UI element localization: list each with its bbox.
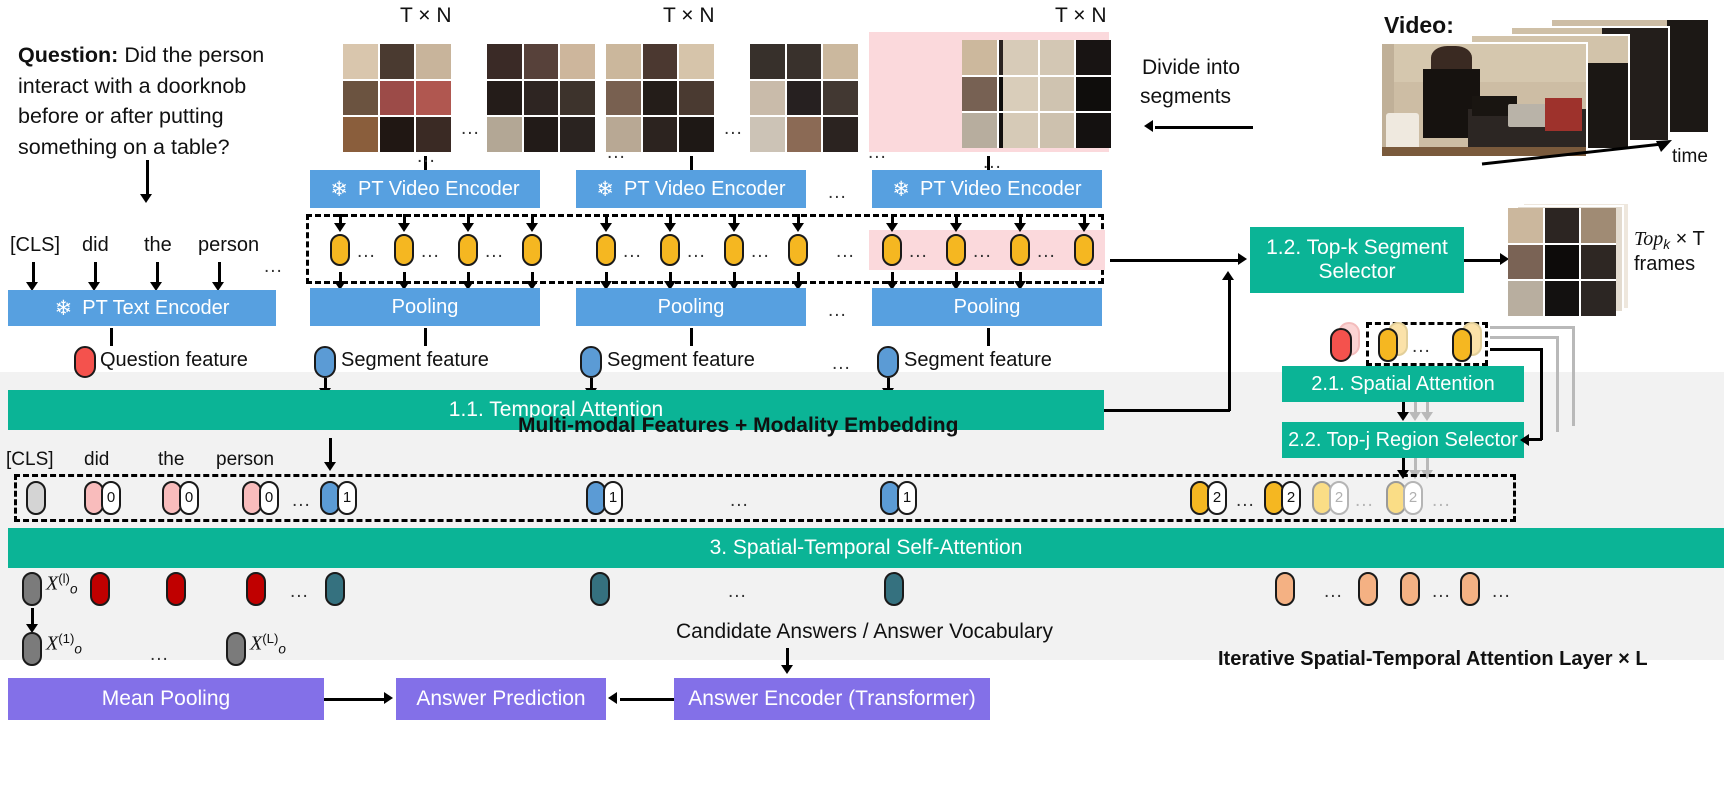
pooling-label: Pooling [392, 296, 459, 318]
snowflake-icon: ❄ [596, 179, 614, 200]
pt-text-encoder[interactable]: ❄ PT Text Encoder [8, 290, 276, 326]
line-tokens-to-topk [1110, 259, 1240, 262]
snowflake-icon: ❄ [892, 179, 910, 200]
arrow-pool3-down [987, 328, 990, 346]
question-label: Question: [18, 43, 118, 67]
answer-encoder-label: Answer Encoder (Transformer) [688, 687, 975, 711]
output-ellipsis-1: ... [290, 581, 309, 603]
tick-head [886, 223, 898, 232]
pooling-2[interactable]: Pooling [576, 288, 806, 326]
ghost-feedback-line [1556, 336, 1559, 432]
tick-head [1078, 223, 1090, 232]
pooling-label: Pooling [658, 296, 725, 318]
divide-line-1: Divide into [1142, 56, 1240, 80]
token-the: the [144, 234, 172, 257]
arrow-question-to-tokens [146, 160, 149, 196]
pt-video-encoder-3[interactable]: ❄ PT Video Encoder [872, 170, 1102, 208]
answer-prediction-box[interactable]: Answer Prediction [396, 678, 606, 720]
modality-id-segment: 1 [897, 490, 917, 505]
frame-token-ellipsis: ... [909, 241, 928, 263]
spatial-attention-module[interactable]: 2.1. Spatial Attention [1282, 366, 1524, 402]
modality-id-text: 0 [179, 490, 199, 505]
snowflake-icon: ❄ [55, 298, 73, 319]
modality-id-segment: 1 [603, 490, 623, 505]
pooling-3[interactable]: Pooling [872, 288, 1102, 326]
frame-token-ellipsis: ... [1037, 241, 1056, 263]
output-token-region [1358, 572, 1378, 606]
answer-encoder-box[interactable]: Answer Encoder (Transformer) [674, 678, 990, 720]
arrow-person-down [218, 262, 221, 284]
topk-label-top: Top [1634, 228, 1663, 250]
output-token-cls [22, 572, 42, 606]
question-feature-label: Question feature [100, 349, 248, 372]
x-subscript: o [70, 581, 78, 596]
output-token-segment [590, 572, 610, 606]
time-arrow-icon [1480, 138, 1680, 168]
output-token-xL [226, 632, 246, 666]
tn-label-3: T × N [1055, 4, 1107, 28]
frame-token-ellipsis: ... [421, 241, 440, 263]
tick-head [664, 223, 676, 232]
pt-video-encoder-label: PT Video Encoder [624, 178, 786, 200]
line-temporal-to-topk-up [1228, 280, 1231, 411]
arrow-cls-down [32, 262, 35, 284]
line-topk-to-frames [1464, 259, 1504, 262]
frame-token-ellipsis: ... [357, 241, 376, 263]
arrowhead-temporal-mm [324, 462, 336, 471]
tick-head [334, 223, 346, 232]
line-meanpool-to-answerpred [324, 698, 386, 701]
spatial-attention-label: 2.1. Spatial Attention [1311, 373, 1494, 395]
output-token-segment [325, 572, 345, 606]
frame-token [1010, 234, 1030, 266]
pt-video-encoder-2[interactable]: ❄ PT Video Encoder [576, 170, 806, 208]
mean-pooling-box[interactable]: Mean Pooling [8, 678, 324, 720]
line-divide-arrow [1155, 126, 1253, 129]
frame-token [788, 234, 808, 266]
modality-id-region: 2 [1329, 490, 1349, 505]
output-token-text [246, 572, 266, 606]
mm-ellipsis-3: ... [1236, 490, 1255, 512]
arrowhead-answerpred-in [384, 692, 393, 704]
x-symbol: X [46, 573, 58, 595]
time-arrow [1480, 138, 1680, 168]
tick-head [792, 223, 804, 232]
frame-token [882, 234, 902, 266]
topk-frames-label: Topk × T [1634, 228, 1705, 252]
output-ellipsis-3: ... [1324, 581, 1343, 603]
region-token-ellipsis: ... [1412, 336, 1431, 358]
tick-head [462, 223, 474, 232]
tick-head [728, 223, 740, 232]
line-answerenc-to-answerpred [620, 698, 674, 701]
ghost-arrowhead [1421, 412, 1433, 421]
output-token-region [1400, 572, 1420, 606]
arrowhead-question [140, 194, 152, 203]
arrow-did-down [94, 262, 97, 284]
line-temporal-to-topk [1104, 409, 1230, 412]
token-did: did [82, 234, 109, 257]
tick-head [526, 223, 538, 232]
answer-prediction-label: Answer Prediction [416, 687, 585, 711]
iterative-layer-label: Iterative Spatial-Temporal Attention Lay… [1218, 648, 1648, 671]
topk-selector-line1: 1.2. Top-k Segment [1266, 236, 1448, 260]
modality-id-region: 2 [1207, 490, 1227, 505]
ghost-arrowhead [1409, 412, 1421, 421]
frame-grid-3b [1003, 40, 1111, 148]
snowflake-icon: ❄ [330, 179, 348, 200]
video-frame-stack [1380, 18, 1720, 158]
tn-label-2: T × N [663, 4, 715, 28]
video-encoder-ellipsis: ... [828, 182, 847, 204]
frame-grid-2a [606, 44, 714, 152]
segment-feature-capsule-3 [877, 346, 899, 378]
pt-text-encoder-label: PT Text Encoder [82, 297, 229, 319]
topk-segment-selector[interactable]: 1.2. Top-k Segment Selector [1250, 227, 1464, 293]
frame-token-ellipsis: ... [973, 241, 992, 263]
pooling-ellipsis: ... [828, 300, 847, 322]
x-superscript: (1) [58, 631, 74, 646]
mm-token-the: the [158, 449, 184, 471]
ghost-feedback-h2 [1490, 326, 1574, 329]
frame-grid-ellipsis-1: ... [461, 118, 480, 140]
spatial-temporal-self-attention[interactable]: 3. Spatial-Temporal Self-Attention [8, 528, 1724, 568]
modality-id-text: 0 [259, 490, 279, 505]
arrow-pool2-down [690, 328, 693, 346]
x-subscript: o [278, 641, 286, 656]
frame-token [394, 234, 414, 266]
segment-feature-label-3: Segment feature [904, 349, 1052, 372]
ghost-feedback-h [1490, 336, 1558, 339]
frame-token [596, 234, 616, 266]
output-x-o-1: X(1)o [46, 631, 82, 656]
frame-token-ellipsis: ... [687, 241, 706, 263]
architecture-diagram: Question: Did the person interact with a… [0, 0, 1724, 794]
frame-token-ellipsis: ... [485, 241, 504, 263]
segment-feature-label-2: Segment feature [607, 349, 755, 372]
mm-ellipsis-4: ... [1355, 490, 1374, 512]
modality-id-text: 0 [101, 490, 121, 505]
output-ellipsis-2: ... [728, 581, 747, 603]
frame-token [522, 234, 542, 266]
output-x-o-l: X(l)o [46, 571, 78, 596]
self-attention-label: 3. Spatial-Temporal Self-Attention [710, 536, 1023, 560]
tick-head [950, 223, 962, 232]
arrow-the-down [156, 262, 159, 284]
modality-id-region: 2 [1281, 490, 1301, 505]
arrowhead-answerpred-left [608, 692, 617, 704]
segment-feature-capsule-2 [580, 346, 602, 378]
frame-grid-1b [487, 44, 595, 152]
token-cls: [CLS] [10, 234, 60, 257]
mm-token-person: person [216, 449, 274, 471]
tick-head [600, 223, 612, 232]
modality-id-region: 2 [1403, 490, 1423, 505]
arrowhead-topj-feedback [1520, 434, 1529, 446]
pooling-label: Pooling [954, 296, 1021, 318]
topk-label-times-t: × T [1670, 228, 1705, 250]
question-text: Question: Did the person interact with a… [18, 40, 286, 162]
topj-region-label: 2.2. Top-j Region Selector [1288, 429, 1518, 451]
mm-ellipsis-1: ... [292, 490, 311, 512]
token-ellipsis: ... [264, 256, 283, 278]
region-token [1378, 328, 1398, 362]
frame-token-ellipsis: ... [623, 241, 642, 263]
question-feature-capsule [74, 346, 96, 378]
pt-video-encoder-label: PT Video Encoder [920, 178, 1082, 200]
frame-token [660, 234, 680, 266]
frame-token [946, 234, 966, 266]
output-x-o-L: X(L)o [250, 631, 286, 656]
mm-ellipsis-2: ... [730, 490, 749, 512]
tick-head [398, 223, 410, 232]
pooling-1[interactable]: Pooling [310, 288, 540, 326]
segment-feature-capsule-1 [314, 346, 336, 378]
feedback-loop-line-h [1529, 438, 1542, 441]
x-symbol: X [250, 633, 262, 655]
feedback-loop-line [1540, 348, 1543, 440]
frame-token [1074, 234, 1094, 266]
pt-video-encoder-1[interactable]: ❄ PT Video Encoder [310, 170, 540, 208]
mm-token-did: did [84, 449, 109, 471]
x-superscript: (l) [58, 571, 70, 586]
output-token-region [1275, 572, 1295, 606]
topk-selector-line2: Selector [1318, 260, 1395, 284]
region-token [1452, 328, 1472, 362]
row-ellipsis-1: ... [417, 146, 436, 168]
frame-token [724, 234, 744, 266]
frame-grid-2b [750, 44, 858, 152]
segment-feature-ellipsis: ... [832, 353, 851, 375]
question-token-right [1330, 328, 1352, 362]
x-superscript: (L) [262, 631, 278, 646]
frame-grid-1a [343, 44, 451, 152]
mm-capsule-cls [26, 481, 46, 515]
x-subscript: o [74, 641, 82, 656]
arrowhead-divide [1144, 120, 1153, 132]
x-symbol: X [46, 633, 58, 655]
output-token-x1 [22, 632, 42, 666]
frame-token-ellipsis: ... [836, 241, 855, 263]
feedback-loop-h2 [1490, 348, 1542, 351]
tick-head [1014, 223, 1026, 232]
arrowhead-topj-in [1397, 412, 1409, 421]
divide-line-2: segments [1140, 85, 1231, 109]
output-ellipsis-4: ... [1432, 581, 1451, 603]
output-token-text [166, 572, 186, 606]
arrow-pool1-down [424, 328, 427, 346]
time-label: time [1672, 146, 1708, 168]
x-chain-ellipsis: ... [150, 644, 169, 666]
mean-pooling-label: Mean Pooling [102, 687, 230, 711]
mm-ellipsis-5: ... [1432, 490, 1451, 512]
frame-token [458, 234, 478, 266]
output-token-text [90, 572, 110, 606]
topj-region-selector[interactable]: 2.2. Top-j Region Selector [1282, 422, 1524, 458]
frames-label: frames [1634, 253, 1695, 276]
pt-video-encoder-label: PT Video Encoder [358, 178, 520, 200]
arrowhead-topk-in [1238, 253, 1247, 265]
output-ellipsis-5: ... [1492, 581, 1511, 603]
output-token-region [1460, 572, 1480, 606]
mm-token-cls: [CLS] [6, 449, 54, 471]
tn-label-1: T × N [400, 4, 452, 28]
arrow-textenc-down [110, 328, 113, 346]
arrowhead-topk-up [1222, 271, 1234, 280]
modality-id-segment: 1 [337, 490, 357, 505]
ghost-feedback-line2 [1572, 326, 1575, 426]
segment-feature-label-1: Segment feature [341, 349, 489, 372]
frame-grid-ellipsis-3: ... [724, 118, 743, 140]
output-token-segment [884, 572, 904, 606]
token-person: person [198, 234, 259, 257]
candidate-answers-label: Candidate Answers / Answer Vocabulary [676, 620, 1053, 644]
multimodal-features-label: Multi-modal Features + Modality Embeddin… [518, 414, 958, 438]
frame-token-ellipsis: ... [751, 241, 770, 263]
frame-token [330, 234, 350, 266]
arrowhead-candidates [781, 665, 793, 674]
